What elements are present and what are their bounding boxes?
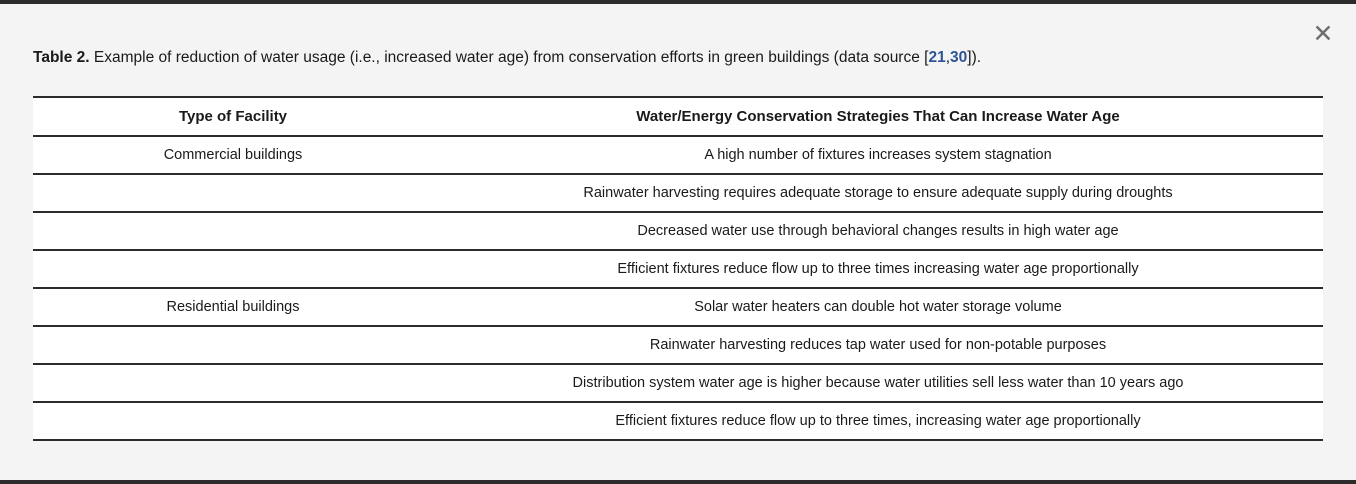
caption-text-before: Example of reduction of water usage (i.e… bbox=[90, 49, 929, 66]
cell-facility bbox=[33, 364, 433, 402]
cell-strategy: Decreased water use through behavioral c… bbox=[433, 212, 1323, 250]
table-body: Commercial buildings A high number of fi… bbox=[33, 136, 1323, 440]
table-row: Distribution system water age is higher … bbox=[33, 364, 1323, 402]
column-header-strategies: Water/Energy Conservation Strategies Tha… bbox=[433, 97, 1323, 136]
table-row: Rainwater harvesting reduces tap water u… bbox=[33, 326, 1323, 364]
cell-facility bbox=[33, 174, 433, 212]
caption-text-after: ]). bbox=[967, 49, 981, 66]
citation-link-30[interactable]: 30 bbox=[950, 49, 967, 66]
table-caption: Table 2. Example of reduction of water u… bbox=[33, 48, 1303, 69]
table-row: Residential buildings Solar water heater… bbox=[33, 288, 1323, 326]
table-header: Type of Facility Water/Energy Conservati… bbox=[33, 97, 1323, 136]
citation-link-21[interactable]: 21 bbox=[928, 49, 945, 66]
table-row: Commercial buildings A high number of fi… bbox=[33, 136, 1323, 174]
cell-facility bbox=[33, 402, 433, 440]
cell-strategy: Solar water heaters can double hot water… bbox=[433, 288, 1323, 326]
column-header-type-of-facility: Type of Facility bbox=[33, 97, 433, 136]
cell-facility bbox=[33, 212, 433, 250]
cell-facility bbox=[33, 326, 433, 364]
table-container: Type of Facility Water/Energy Conservati… bbox=[33, 96, 1323, 441]
cell-strategy: Rainwater harvesting requires adequate s… bbox=[433, 174, 1323, 212]
cell-facility: Commercial buildings bbox=[33, 136, 433, 174]
table-row: Efficient fixtures reduce flow up to thr… bbox=[33, 250, 1323, 288]
table-row: Efficient fixtures reduce flow up to thr… bbox=[33, 402, 1323, 440]
cell-strategy: Rainwater harvesting reduces tap water u… bbox=[433, 326, 1323, 364]
conservation-strategies-table: Type of Facility Water/Energy Conservati… bbox=[33, 96, 1323, 441]
cell-strategy: A high number of fixtures increases syst… bbox=[433, 136, 1323, 174]
table-row: Decreased water use through behavioral c… bbox=[33, 212, 1323, 250]
table-row: Rainwater harvesting requires adequate s… bbox=[33, 174, 1323, 212]
cell-facility: Residential buildings bbox=[33, 288, 433, 326]
cell-strategy: Efficient fixtures reduce flow up to thr… bbox=[433, 250, 1323, 288]
table-viewer-panel: ✕ Table 2. Example of reduction of water… bbox=[0, 0, 1356, 484]
caption-label: Table 2. bbox=[33, 49, 90, 66]
close-icon[interactable]: ✕ bbox=[1308, 18, 1338, 48]
cell-strategy: Distribution system water age is higher … bbox=[433, 364, 1323, 402]
cell-strategy: Efficient fixtures reduce flow up to thr… bbox=[433, 402, 1323, 440]
table-header-row: Type of Facility Water/Energy Conservati… bbox=[33, 97, 1323, 136]
cell-facility bbox=[33, 250, 433, 288]
